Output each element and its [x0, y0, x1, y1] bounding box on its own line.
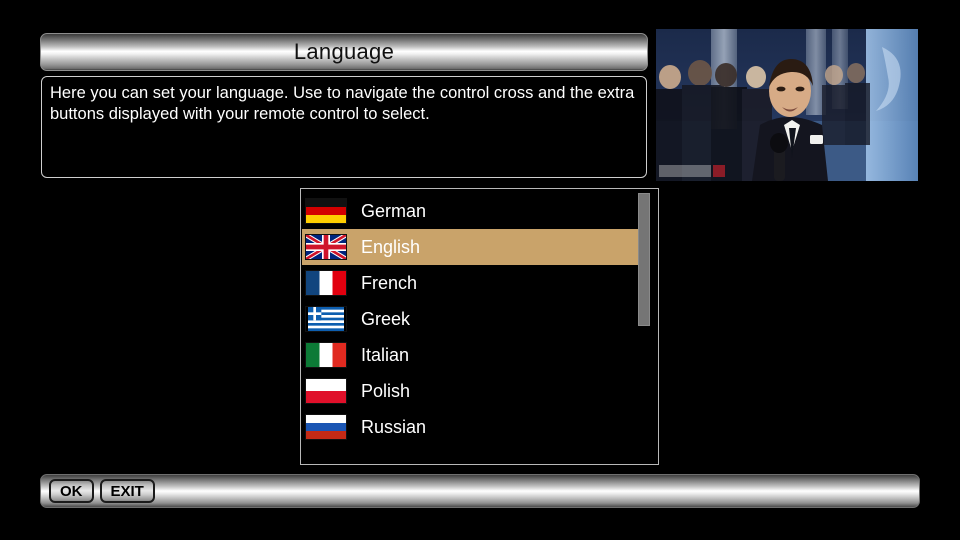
list-item-french[interactable]: French: [302, 265, 642, 301]
list-item-label: Russian: [361, 417, 426, 438]
live-tv-preview[interactable]: [656, 29, 918, 181]
list-item-label: German: [361, 201, 426, 222]
bottom-action-bar: OK EXIT: [40, 474, 920, 508]
greek-flag-icon: [305, 306, 347, 332]
language-list-panel[interactable]: German English French: [300, 188, 659, 465]
italian-flag-icon: [305, 342, 347, 368]
list-item-polish[interactable]: Polish: [302, 373, 642, 409]
list-item-german[interactable]: German: [302, 193, 642, 229]
list-item-label: Italian: [361, 345, 409, 366]
list-item-russian[interactable]: Russian: [302, 409, 642, 445]
page-title-bar: Language: [40, 33, 648, 71]
list-item-label: Greek: [361, 309, 410, 330]
exit-button[interactable]: EXIT: [100, 479, 155, 503]
german-flag-icon: [305, 198, 347, 224]
language-list: German English French: [302, 193, 642, 445]
french-flag-icon: [305, 270, 347, 296]
channel-watermark: [659, 165, 725, 177]
union-jack-flag-icon: [305, 234, 347, 260]
tv-settings-screen: Language Here you can set your language.…: [0, 0, 960, 540]
russian-flag-icon: [305, 414, 347, 440]
ok-button[interactable]: OK: [49, 479, 94, 503]
list-item-italian[interactable]: Italian: [302, 337, 642, 373]
preview-video-frame: [656, 29, 918, 181]
list-scrollbar-track[interactable]: [638, 193, 650, 462]
list-item-label: Polish: [361, 381, 410, 402]
list-item-label: French: [361, 273, 417, 294]
list-item-greek[interactable]: Greek: [302, 301, 642, 337]
list-item-label: English: [361, 237, 420, 258]
list-item-english[interactable]: English: [302, 229, 642, 265]
polish-flag-icon: [305, 378, 347, 404]
description-text: Here you can set your language. Use to n…: [50, 83, 636, 125]
description-panel: Here you can set your language. Use to n…: [41, 76, 647, 178]
list-scrollbar-thumb[interactable]: [638, 193, 650, 326]
page-title: Language: [294, 39, 394, 65]
